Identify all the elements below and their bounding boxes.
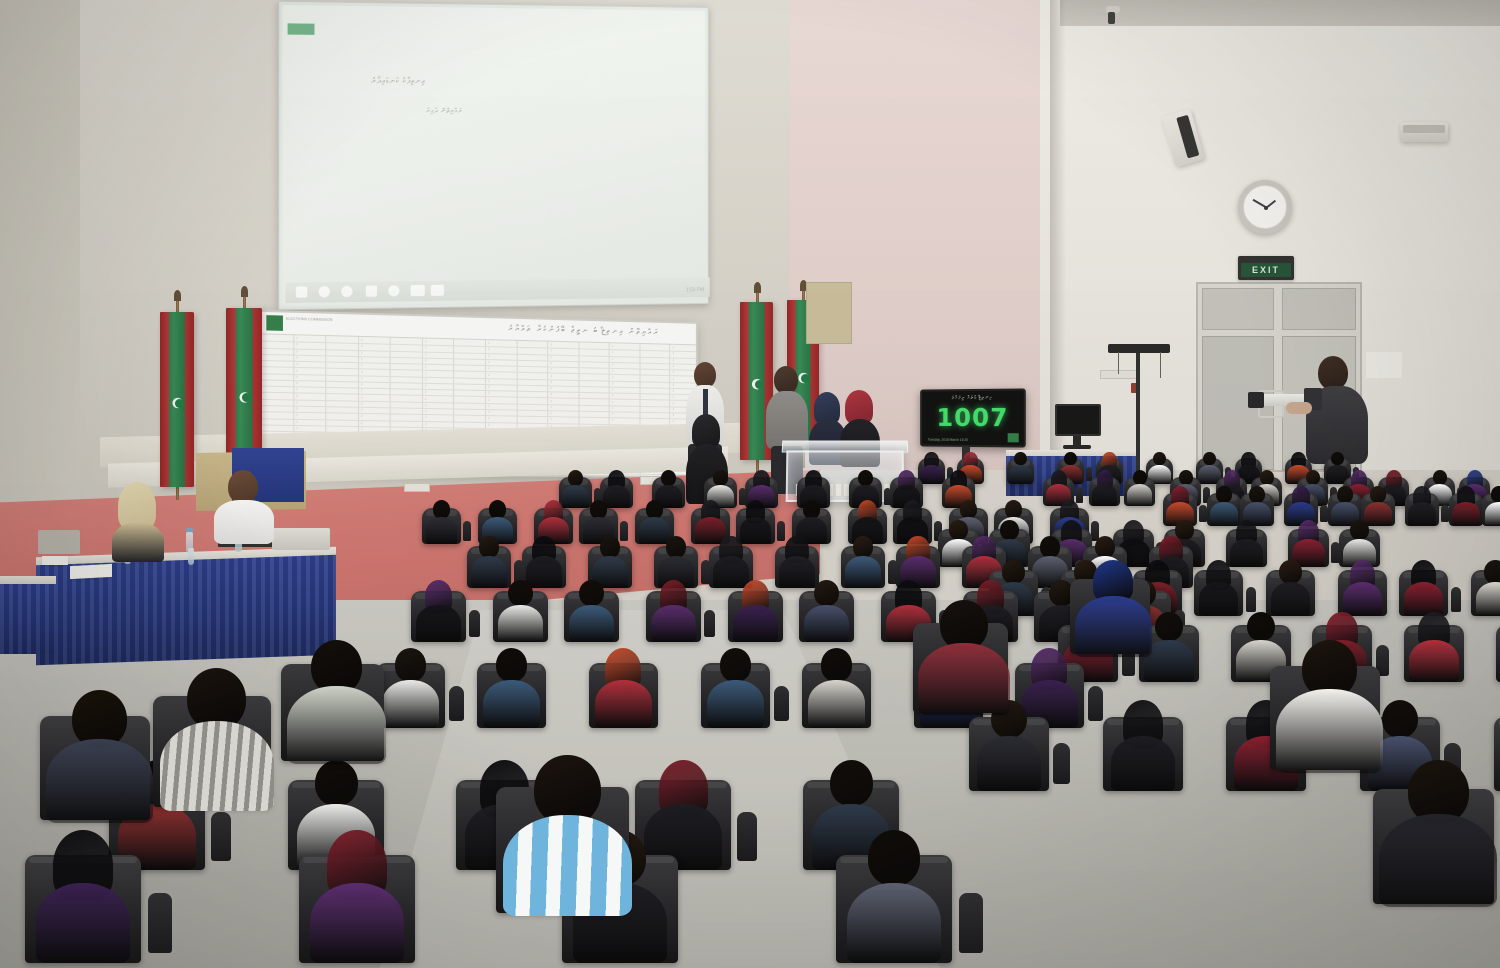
board-cell: ރާ (673, 352, 675, 356)
board-cell: ރާ (361, 402, 363, 406)
board-cell: ރާ (361, 414, 363, 418)
torso (1276, 689, 1383, 773)
door-top-pane-right (1282, 288, 1356, 330)
water-bottle-crate (38, 530, 80, 554)
board-cell: ރާ (550, 349, 552, 353)
light-cable (1160, 352, 1161, 378)
auditorium-seat[interactable] (1494, 717, 1500, 791)
head (858, 470, 873, 486)
head (1491, 486, 1500, 503)
flag-finial-icon (241, 286, 248, 297)
board-cell: ރާ (361, 389, 363, 393)
flag-finial-icon (174, 290, 181, 301)
seat-armrest (888, 560, 898, 583)
grid-icon (411, 285, 425, 296)
tally-logo-icon (1008, 433, 1019, 442)
head (1350, 520, 1369, 540)
screen-heading-text: އިނތިފާކު ކަނޑައިދާރު (371, 75, 610, 89)
flag-finial-icon (754, 282, 761, 293)
board-cell: ރާ (488, 360, 490, 364)
head (1005, 500, 1022, 519)
wall-corner-shadow (1050, 0, 1066, 470)
torso (1271, 582, 1311, 616)
head (1249, 486, 1265, 503)
head (590, 500, 607, 519)
board-cell: ރާ (550, 399, 552, 403)
board-cell: ރާ (673, 414, 675, 418)
board-cell: ރާ (612, 357, 614, 361)
computer-monitor (1055, 404, 1101, 436)
seat-armrest (739, 488, 746, 505)
seat-armrest (777, 521, 785, 541)
board-cell: ރާ (488, 348, 490, 352)
head (1216, 486, 1232, 503)
torso (1364, 502, 1392, 526)
mail-icon (431, 285, 444, 296)
board-cell: ރާ (488, 404, 490, 408)
torso (779, 556, 816, 587)
board-cell: ރާ (425, 346, 427, 350)
board-cell: ރާ (296, 343, 298, 347)
head (774, 366, 798, 394)
board-cell: ރާ (425, 365, 427, 369)
torso (1111, 736, 1176, 791)
home-icon (319, 286, 330, 297)
digital-vote-counter: އިނތިخާބުތައް ދީފައްވަ 1007 Tuesday, 201… (920, 388, 1026, 447)
results-board-logo-label: ELECTIONS COMMISSION (286, 317, 332, 323)
seat-armrest (463, 521, 471, 541)
wall-switch-panel (1100, 370, 1138, 379)
board-cell: ރާ (361, 408, 363, 412)
board-cell: ރާ (673, 364, 675, 368)
torso (595, 680, 652, 728)
head (1484, 560, 1500, 584)
clock-center-pin (1264, 206, 1268, 210)
board-cell: ރާ (612, 363, 614, 367)
head (853, 536, 873, 558)
seat-armrest (1331, 542, 1340, 563)
head (661, 470, 676, 486)
torso (1404, 582, 1444, 616)
board-cell: ރާ (425, 371, 427, 375)
board-cell: ރާ (425, 397, 427, 401)
board-cell: ރާ (550, 386, 552, 390)
board-cell: ރާ (673, 346, 675, 350)
board-cell: ރާ (550, 343, 552, 347)
seat-armrest (959, 893, 984, 953)
torso (603, 485, 630, 508)
white-paper-sign (1366, 352, 1402, 378)
torso (1408, 502, 1436, 526)
board-cell: ރާ (488, 354, 490, 358)
board-cell: ރާ (296, 349, 298, 353)
seat-armrest (620, 521, 628, 541)
board-cell: ރާ (612, 406, 614, 410)
torso (36, 883, 131, 964)
board-cell: ރާ (425, 390, 427, 394)
board-cell: ރާ (361, 338, 363, 342)
torso (287, 686, 387, 764)
auditorium-scene: އިނތިފާކު ކަނޑައިދާރު ރައްޔިތޮން ދާއިރާ … (0, 0, 1500, 968)
seat-armrest (1441, 505, 1448, 523)
board-cell: ރާ (612, 369, 614, 373)
torso (1210, 502, 1238, 526)
board-cell: ރާ (488, 373, 490, 377)
torso (918, 643, 1011, 716)
board-cell: ރާ (612, 375, 614, 379)
head (1179, 470, 1193, 485)
torso (112, 522, 164, 562)
head (814, 580, 839, 606)
board-cell: ރާ (612, 351, 614, 355)
head (1318, 356, 1348, 390)
torso (804, 605, 848, 643)
torso (1485, 502, 1500, 526)
board-cell: ރާ (361, 370, 363, 374)
board-cell: ރާ (488, 379, 490, 383)
monitor-base (1063, 445, 1091, 449)
board-cell: ރާ (488, 423, 490, 427)
auditorium-seat[interactable] (1496, 625, 1500, 682)
head (1337, 486, 1353, 503)
head (1040, 536, 1060, 558)
board-cell: ރާ (296, 420, 298, 424)
wall-clock (1238, 180, 1292, 234)
seat-armrest (1320, 505, 1327, 523)
head (830, 760, 874, 806)
board-cell: ރާ (673, 407, 675, 411)
seat-armrest (1076, 487, 1083, 503)
head (868, 830, 921, 886)
printer (272, 528, 330, 550)
bottle-cap (186, 528, 193, 532)
seat-armrest (211, 812, 231, 861)
board-cell: ރާ (488, 391, 490, 395)
ceiling-right (1060, 0, 1500, 26)
head (1175, 520, 1194, 540)
board-cell: ރާ (296, 336, 298, 340)
head (600, 536, 620, 558)
screen-taskbar: 1:50 PM (285, 277, 709, 303)
head (821, 648, 853, 682)
head (1382, 700, 1418, 738)
torso (977, 736, 1042, 791)
torso (1075, 596, 1153, 657)
head (1064, 452, 1077, 465)
torso (416, 605, 460, 643)
board-cell: ރާ (550, 418, 552, 422)
board-cell: ރާ (425, 415, 427, 419)
board-cell: ރާ (550, 405, 552, 409)
head (1306, 470, 1320, 485)
board-cell: ރާ (361, 357, 363, 361)
seat-armrest (148, 893, 173, 953)
paper-document (70, 564, 112, 579)
board-cell: ރާ (673, 371, 675, 375)
board-cell: ރާ (673, 389, 675, 393)
head (479, 536, 499, 558)
head (1002, 560, 1024, 584)
board-cell: ރާ (296, 356, 298, 360)
torso (471, 556, 508, 587)
door-top-pane-left (1202, 288, 1274, 330)
torso (1409, 640, 1459, 682)
head (803, 500, 820, 519)
head (1153, 452, 1166, 465)
head (720, 648, 752, 682)
board-cell: ރާ (361, 383, 363, 387)
board-cell: ރާ (673, 395, 675, 399)
head (1370, 486, 1386, 503)
board-cell: ރާ (361, 351, 363, 355)
screen-green-tab (288, 23, 315, 35)
torso (1230, 539, 1263, 568)
head (1203, 452, 1216, 465)
head (1014, 452, 1027, 465)
head (1000, 520, 1019, 540)
torso (160, 721, 275, 811)
board-cell: ރާ (296, 413, 298, 417)
board-cell: ރާ (361, 421, 363, 425)
tally-header-text: އިނތިخާބުތައް ދީފައްވަ (922, 395, 1024, 402)
torso (1127, 484, 1152, 506)
paper-document (42, 556, 68, 565)
board-cell: ރާ (425, 359, 427, 363)
torso (46, 739, 153, 823)
board-cell: ރާ (361, 376, 363, 380)
torso (651, 605, 695, 643)
wall-speaker (1400, 122, 1448, 142)
torso (847, 883, 942, 964)
board-cell: ރާ (612, 400, 614, 404)
seat-armrest (774, 686, 789, 722)
board-cell: ރާ (296, 368, 298, 372)
torso (214, 500, 274, 544)
board-cell: ރާ (550, 411, 552, 415)
board-cell: ރާ (425, 384, 427, 388)
torso (1092, 484, 1117, 506)
photographer-hand (1286, 402, 1312, 414)
board-cell: ރާ (361, 344, 363, 348)
tally-footer-text: Tuesday, 2018 March 14:20 (928, 438, 968, 442)
board-cell: ރާ (425, 340, 427, 344)
torso (1009, 465, 1032, 484)
board-cell: ރާ (550, 362, 552, 366)
torso (498, 605, 542, 643)
head (1331, 452, 1344, 465)
board-cell: ރާ (296, 375, 298, 379)
screen-clock: 1:50 PM (686, 287, 704, 293)
torso (310, 883, 405, 964)
torso (740, 517, 771, 544)
board-cell: ރާ (488, 398, 490, 402)
elections-commission-logo-icon (266, 315, 283, 331)
officials-table-cloth-left (0, 584, 56, 654)
head (1260, 470, 1274, 485)
seat-armrest (701, 560, 711, 583)
board-cell: ރާ (673, 377, 675, 381)
torso (483, 680, 540, 728)
board-cell: ރާ (550, 380, 552, 384)
board-cell: ރާ (296, 362, 298, 366)
board-cell: ރާ (673, 383, 675, 387)
board-cell: ރާ (550, 355, 552, 359)
seat-armrest (1451, 587, 1461, 612)
exit-sign: EXIT (1238, 256, 1294, 280)
board-cell: ރާ (488, 366, 490, 370)
screen-sub-text: ރައްޔިތޮން ދާއިރާ (426, 108, 644, 117)
head (666, 536, 686, 558)
wall-socket (404, 483, 430, 492)
maldives-flag (160, 312, 194, 487)
water-bottle (188, 548, 194, 565)
board-cell: ރާ (488, 385, 490, 389)
head (949, 520, 968, 540)
clock-face (1243, 185, 1287, 229)
head (1133, 470, 1147, 485)
seat-armrest (449, 686, 464, 722)
board-cell: ރާ (425, 403, 427, 407)
head (395, 648, 427, 682)
board-cell: ރާ (296, 394, 298, 398)
head (960, 500, 977, 519)
board-cell: ރާ (296, 381, 298, 385)
head (713, 470, 728, 486)
head (433, 500, 450, 519)
torso (1452, 502, 1480, 526)
torso (562, 485, 589, 508)
hijab (692, 414, 720, 448)
torso (713, 556, 750, 587)
board-cell: ރާ (673, 358, 675, 362)
head (646, 500, 663, 519)
head (1095, 536, 1115, 558)
torso (526, 556, 563, 587)
board-cell: ރާ (612, 412, 614, 416)
board-cell: ރާ (612, 419, 614, 423)
head (496, 648, 528, 682)
torso (426, 517, 457, 544)
torso (1199, 582, 1239, 616)
results-board-title: ރައްޔިތޮން އިނތިخާބު ނތީޖާ ބޭފުންކުރާ ތަ… (508, 324, 660, 338)
board-cell: ރާ (296, 426, 298, 430)
board-cell: ރާ (425, 409, 427, 413)
head (228, 470, 258, 504)
exit-sign-label: EXIT (1252, 265, 1280, 275)
seat-armrest (1053, 743, 1070, 784)
seat-armrest (1246, 587, 1256, 612)
torso (1343, 582, 1383, 616)
seat-armrest (469, 610, 480, 638)
head (489, 500, 506, 519)
circle-icon (388, 285, 399, 296)
board-cell: ރާ (612, 388, 614, 392)
board-cell: ރާ (612, 394, 614, 398)
wall-panel (806, 282, 852, 344)
tally-count-value: 1007 (922, 403, 1024, 433)
board-cell: ރާ (488, 341, 490, 345)
board-cell: ރާ (296, 400, 298, 404)
start-icon (296, 286, 307, 297)
camera-body-icon (1248, 392, 1264, 408)
board-cell: ރާ (488, 410, 490, 414)
seat-armrest (737, 812, 757, 861)
projection-screen: އިނތިފާކު ކަނޑައިދާރު ރައްޔިތޮން ދާއިރާ … (278, 1, 709, 310)
board-cell: ރާ (550, 368, 552, 372)
board-cell: ރާ (673, 420, 675, 424)
head (1155, 612, 1183, 641)
torso (707, 680, 764, 728)
folder-icon (366, 286, 377, 297)
head (508, 580, 533, 606)
board-cell: ރާ (425, 422, 427, 426)
board-cell: ރާ (612, 344, 614, 348)
board-cell: ރާ (425, 378, 427, 382)
board-cell: ރާ (673, 401, 675, 405)
globe-icon (341, 286, 352, 297)
seat-armrest (704, 610, 715, 638)
head (1247, 612, 1275, 641)
head (579, 580, 604, 606)
torso (808, 680, 865, 728)
torso (569, 605, 613, 643)
seat-armrest (1088, 686, 1103, 722)
board-cell: ރާ (361, 364, 363, 368)
torso (1379, 814, 1497, 907)
torso (733, 605, 777, 643)
torso (1476, 582, 1500, 616)
studio-light-stand (1136, 352, 1140, 472)
torso (920, 465, 943, 484)
light-cable (1118, 352, 1119, 374)
projection-screen-surface: އިނތިފާކު ކަނޑައިދާރު ރައްޔިތޮން ދާއިރާ … (282, 5, 705, 306)
torso (845, 556, 882, 587)
torso (639, 517, 670, 544)
head (315, 760, 359, 806)
board-cell: ރާ (550, 374, 552, 378)
head (1433, 470, 1447, 485)
board-cell: ރާ (296, 388, 298, 392)
board-cell: ރާ (361, 395, 363, 399)
seat-armrest (1199, 505, 1206, 523)
seat-armrest (884, 488, 891, 505)
torso (503, 815, 633, 917)
board-cell: ރާ (612, 382, 614, 386)
board-cell: ރާ (296, 407, 298, 411)
security-camera-icon (1108, 12, 1115, 24)
board-cell: ރާ (488, 417, 490, 421)
head (568, 470, 583, 486)
torso (382, 680, 439, 728)
head (1279, 560, 1301, 584)
board-cell: ރާ (425, 352, 427, 356)
board-cell: ރާ (550, 393, 552, 397)
